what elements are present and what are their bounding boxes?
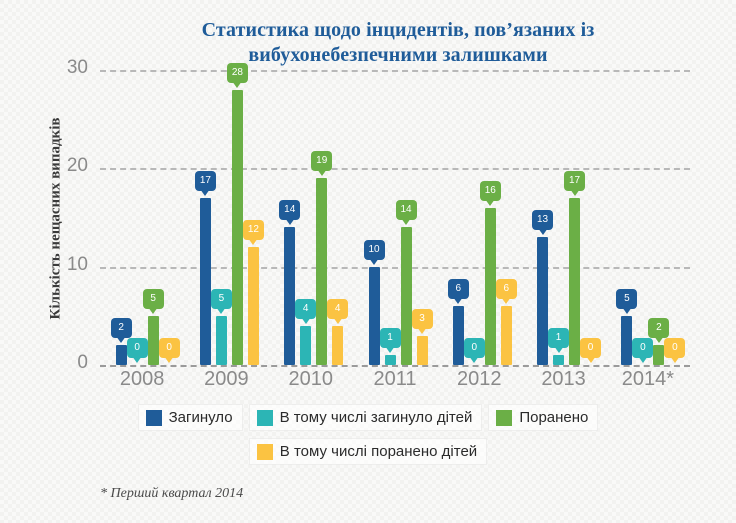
legend-item[interactable]: В тому числі загинуло дітей [249,404,483,431]
legend-item[interactable]: В тому числі поранено дітей [249,438,487,465]
bar-value-label: 2 [648,318,669,338]
bar-value-label: 0 [159,338,180,358]
bar-value-label: 5 [616,289,637,309]
bar-value-label: 19 [311,151,332,171]
bar[interactable] [569,198,580,365]
x-axis-tick: 2014* [603,368,693,391]
bar[interactable] [116,345,127,365]
x-axis-tick: 2009 [181,368,271,391]
bar[interactable] [248,247,259,365]
bar[interactable] [653,345,664,365]
legend-label: Поранено [519,409,588,426]
legend-label: Загинуло [169,409,233,426]
bar[interactable] [401,227,412,365]
gridline [100,70,690,72]
bar-value-label: 17 [564,171,585,191]
bar-value-label: 14 [396,200,417,220]
x-axis-tick: 2013 [519,368,609,391]
bar-value-label: 10 [364,240,385,260]
x-axis-tick: 2008 [97,368,187,391]
bar-value-label: 1 [380,328,401,348]
chart-container: Статистика щодо інцидентів, пов’язаних і… [0,0,736,523]
legend-swatch [146,410,162,426]
bar[interactable] [200,198,211,365]
legend-item[interactable]: Загинуло [138,404,243,431]
y-axis-tick: 20 [48,155,88,177]
bar[interactable] [216,316,227,365]
bar[interactable] [332,326,343,365]
bar-value-label: 0 [127,338,148,358]
bar[interactable] [485,208,496,365]
bar-value-label: 0 [580,338,601,358]
chart-title: Статистика щодо інцидентів, пов’язаних і… [98,18,698,68]
legend-row-primary: ЗагинулоВ тому числі загинуло дітейПоран… [0,404,736,431]
bar[interactable] [537,237,548,365]
bar-value-label: 28 [227,63,248,83]
bar-value-label: 5 [211,289,232,309]
bar[interactable] [232,90,243,365]
bar[interactable] [148,316,159,365]
chart-footnote: * Перший квартал 2014 [100,486,243,502]
bar-value-label: 4 [327,299,348,319]
legend-swatch [257,410,273,426]
x-axis-tick: 2010 [266,368,356,391]
bar-value-label: 2 [111,318,132,338]
bar-value-label: 3 [412,309,433,329]
bar-value-label: 5 [143,289,164,309]
bar[interactable] [553,355,564,365]
bar-value-label: 12 [243,220,264,240]
bar[interactable] [621,316,632,365]
legend-label: В тому числі загинуло дітей [280,409,473,426]
bar[interactable] [316,178,327,365]
gridline [100,267,690,269]
bar-value-label: 1 [548,328,569,348]
legend-label: В тому числі поранено дітей [280,443,477,460]
bar-value-label: 6 [496,279,517,299]
legend-swatch [257,444,273,460]
bar-value-label: 17 [195,171,216,191]
bar-value-label: 0 [664,338,685,358]
gridline [100,168,690,170]
bar[interactable] [453,306,464,365]
legend-swatch [496,410,512,426]
y-axis-tick: 0 [48,352,88,374]
bar[interactable] [300,326,311,365]
bar[interactable] [284,227,295,365]
bar-value-label: 16 [480,181,501,201]
bar-value-label: 4 [295,299,316,319]
x-axis-tick: 2012 [434,368,524,391]
legend-item[interactable]: Поранено [488,404,598,431]
y-axis-tick: 30 [48,57,88,79]
bar-value-label: 0 [632,338,653,358]
bar[interactable] [369,267,380,365]
y-axis-label: Кількість нещасних випадків [48,89,65,349]
bar-value-label: 6 [448,279,469,299]
bar-value-label: 13 [532,210,553,230]
y-axis-tick: 10 [48,254,88,276]
bar-value-label: 0 [464,338,485,358]
bar-value-label: 14 [279,200,300,220]
x-axis-tick: 2011 [350,368,440,391]
legend-row-secondary: В тому числі поранено дітей [0,438,736,465]
bar[interactable] [385,355,396,365]
bar[interactable] [501,306,512,365]
bar[interactable] [417,336,428,366]
axis-baseline [100,365,690,367]
